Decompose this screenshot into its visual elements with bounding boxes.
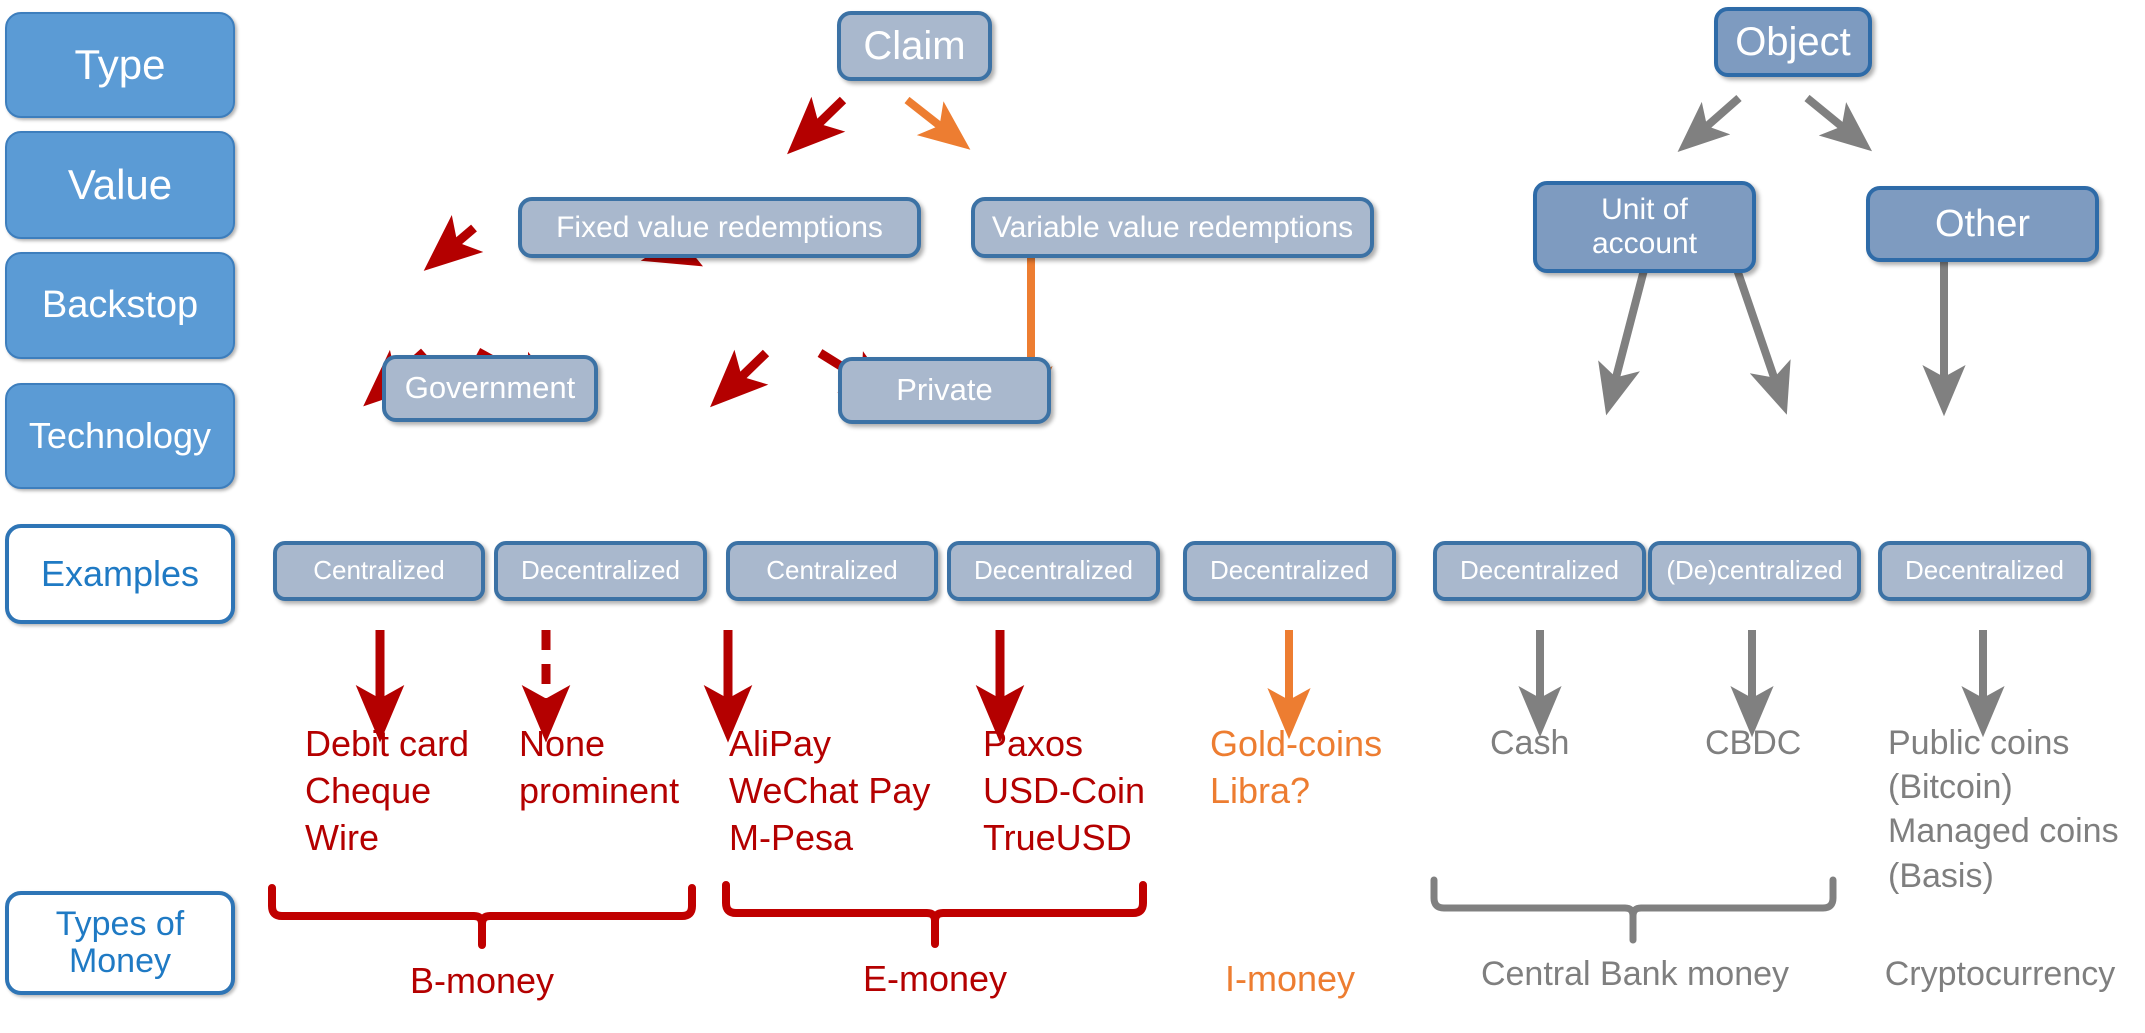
examples-e-centralized: AliPay WeChat Pay M-Pesa — [729, 721, 969, 861]
node-tech-variable-decentralized-label: Decentralized — [1210, 556, 1369, 585]
node-tech-uoa-decentralized-label: Decentralized — [1460, 556, 1619, 585]
node-government[interactable]: Government — [382, 355, 598, 422]
brace-b-money — [272, 888, 692, 924]
node-other[interactable]: Other — [1866, 186, 2099, 262]
node-tech-priv-decentralized-label: Decentralized — [974, 556, 1133, 585]
row-label-technology-text: Technology — [29, 417, 211, 456]
examples-b-decentralized: None prominent — [519, 721, 749, 815]
node-tech-gov-centralized[interactable]: Centralized — [273, 541, 485, 601]
row-label-examples[interactable]: Examples — [5, 524, 235, 624]
row-label-backstop-text: Backstop — [42, 285, 198, 326]
node-private[interactable]: Private — [838, 357, 1051, 424]
node-fixed-value-redemptions-label: Fixed value redemptions — [556, 211, 883, 245]
brace-e-money — [726, 885, 1143, 921]
node-tech-uoa-decentralized-2-label: (De)centralized — [1666, 556, 1842, 585]
arrow-fixed-to-government — [447, 228, 474, 251]
brace-central-bank-money — [1434, 880, 1833, 916]
node-tech-other-decentralized-label: Decentralized — [1905, 556, 2064, 585]
money-type-i-money: I-money — [1190, 958, 1390, 1000]
examples-b-centralized: Debit card Cheque Wire — [305, 721, 535, 861]
arrow-private-to-centralized — [732, 353, 766, 386]
arrow-claim-to-fixed — [809, 100, 843, 133]
node-other-label: Other — [1935, 203, 2030, 246]
row-label-technology[interactable]: Technology — [5, 383, 235, 489]
node-tech-gov-centralized-label: Centralized — [313, 556, 445, 585]
row-label-examples-text: Examples — [41, 555, 199, 594]
arrow-object-to-other — [1807, 98, 1851, 134]
node-tech-uoa-decentralized[interactable]: Decentralized — [1433, 541, 1646, 601]
money-tree-diagram: Type Value Backstop Technology Examples … — [0, 0, 2145, 1033]
node-fixed-value-redemptions[interactable]: Fixed value redemptions — [518, 197, 921, 258]
node-tech-gov-decentralized[interactable]: Decentralized — [494, 541, 707, 601]
node-private-label: Private — [896, 373, 992, 408]
money-type-b-money: B-money — [382, 960, 582, 1002]
row-label-types-of-money-text: Types of Money — [56, 906, 185, 979]
examples-i-money: Gold-coins Libra? — [1210, 721, 1440, 815]
node-tech-priv-decentralized[interactable]: Decentralized — [947, 541, 1160, 601]
node-object-label: Object — [1735, 20, 1851, 65]
connector-layer — [0, 0, 2145, 1033]
examples-cbdc: CBDC — [1705, 721, 1875, 765]
node-tech-other-decentralized[interactable]: Decentralized — [1878, 541, 2091, 601]
node-object[interactable]: Object — [1714, 7, 1872, 77]
row-label-type[interactable]: Type — [5, 12, 235, 118]
arrow-claim-to-variable — [907, 100, 949, 133]
row-label-value[interactable]: Value — [5, 131, 235, 239]
node-tech-variable-decentralized[interactable]: Decentralized — [1183, 541, 1396, 601]
node-unit-of-account[interactable]: Unit of account — [1533, 181, 1756, 273]
row-label-value-text: Value — [68, 162, 172, 207]
examples-cash: Cash — [1490, 721, 1660, 765]
row-label-types-of-money[interactable]: Types of Money — [5, 891, 235, 995]
row-label-type-text: Type — [74, 42, 165, 87]
arrow-object-to-unit-of-account — [1698, 98, 1739, 134]
node-tech-uoa-decentralized-2[interactable]: (De)centralized — [1648, 541, 1861, 601]
node-claim-label: Claim — [863, 24, 965, 69]
node-unit-of-account-label: Unit of account — [1592, 193, 1697, 260]
node-tech-priv-centralized-label: Centralized — [766, 556, 898, 585]
money-type-cryptocurrency: Cryptocurrency — [1855, 955, 2145, 994]
node-claim[interactable]: Claim — [837, 11, 992, 81]
node-tech-priv-centralized[interactable]: Centralized — [726, 541, 938, 601]
node-government-label: Government — [405, 371, 576, 406]
row-label-backstop[interactable]: Backstop — [5, 252, 235, 359]
money-type-central-bank-money: Central Bank money — [1450, 955, 1820, 994]
money-type-e-money: E-money — [835, 958, 1035, 1000]
node-variable-value-redemptions-label: Variable value redemptions — [992, 211, 1353, 245]
node-tech-gov-decentralized-label: Decentralized — [521, 556, 680, 585]
examples-crypto: Public coins (Bitcoin) Managed coins (Ba… — [1888, 721, 2145, 898]
node-variable-value-redemptions[interactable]: Variable value redemptions — [971, 197, 1374, 258]
examples-e-decentralized: Paxos USD-Coin TrueUSD — [983, 721, 1213, 861]
